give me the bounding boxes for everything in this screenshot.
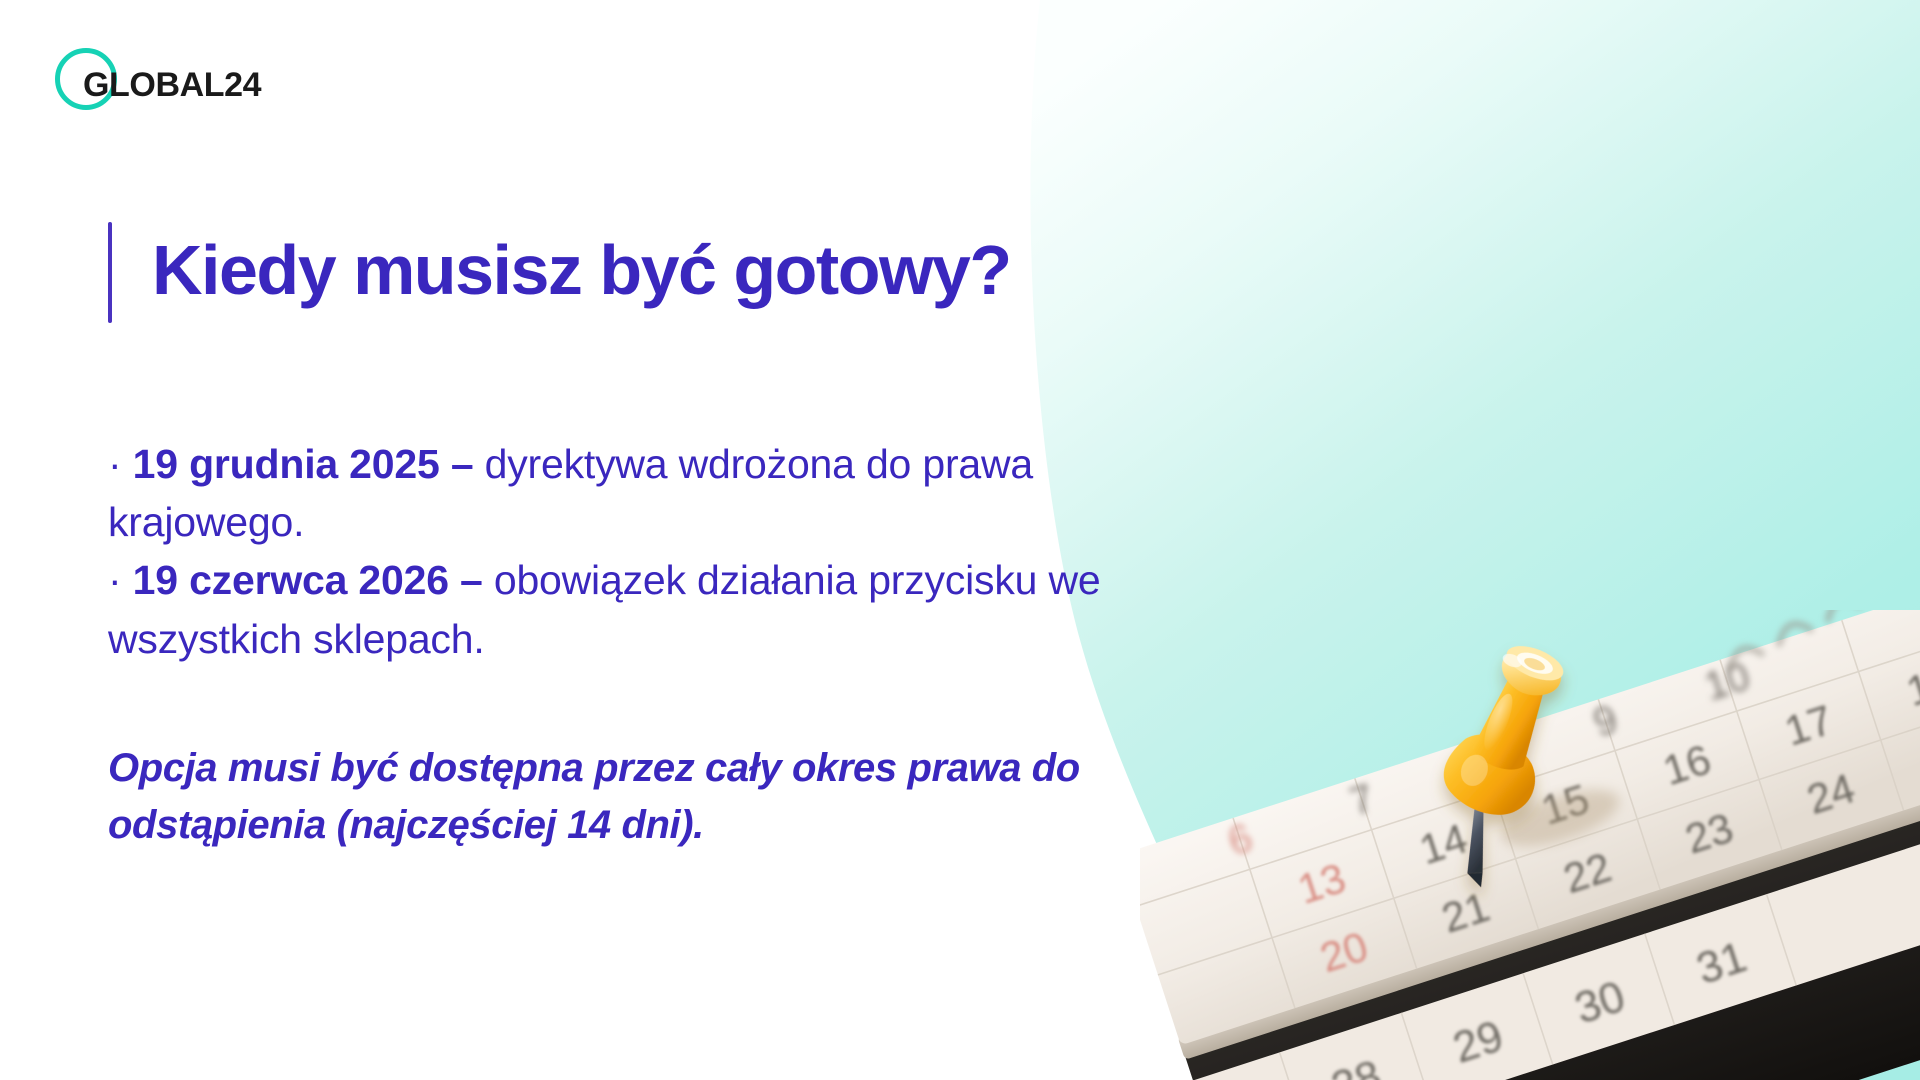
calendar-photo: 13 14 15 16 17 18 20 21 22 23 24 25	[1140, 610, 1920, 1080]
list-item: · 19 grudnia 2025 – dyrektywa wdrożona d…	[108, 435, 1218, 551]
brand-logo: GLOBAL24	[55, 48, 315, 120]
bullet-date: 19 czerwca 2026	[133, 557, 449, 603]
title-accent-bar	[108, 222, 112, 323]
closing-note: Opcja musi być dostępna przez cały okres…	[108, 740, 1238, 854]
page-title: Kiedy musisz być gotowy?	[152, 222, 1011, 323]
slide-canvas: GLOBAL24 Kiedy musisz być gotowy? · 19 g…	[0, 0, 1920, 1080]
logo-wordmark: GLOBAL24	[83, 68, 261, 102]
bullet-date: 19 grudnia 2025	[133, 441, 440, 487]
bullet-marker: ·	[108, 557, 121, 603]
bullet-list: · 19 grudnia 2025 – dyrektywa wdrożona d…	[108, 435, 1218, 668]
list-item: · 19 czerwca 2026 – obowiązek działania …	[108, 551, 1218, 667]
page-title-block: Kiedy musisz być gotowy?	[108, 222, 1011, 323]
bullet-marker: ·	[108, 441, 121, 487]
bullet-dash: –	[460, 557, 483, 603]
bullet-dash: –	[451, 441, 474, 487]
